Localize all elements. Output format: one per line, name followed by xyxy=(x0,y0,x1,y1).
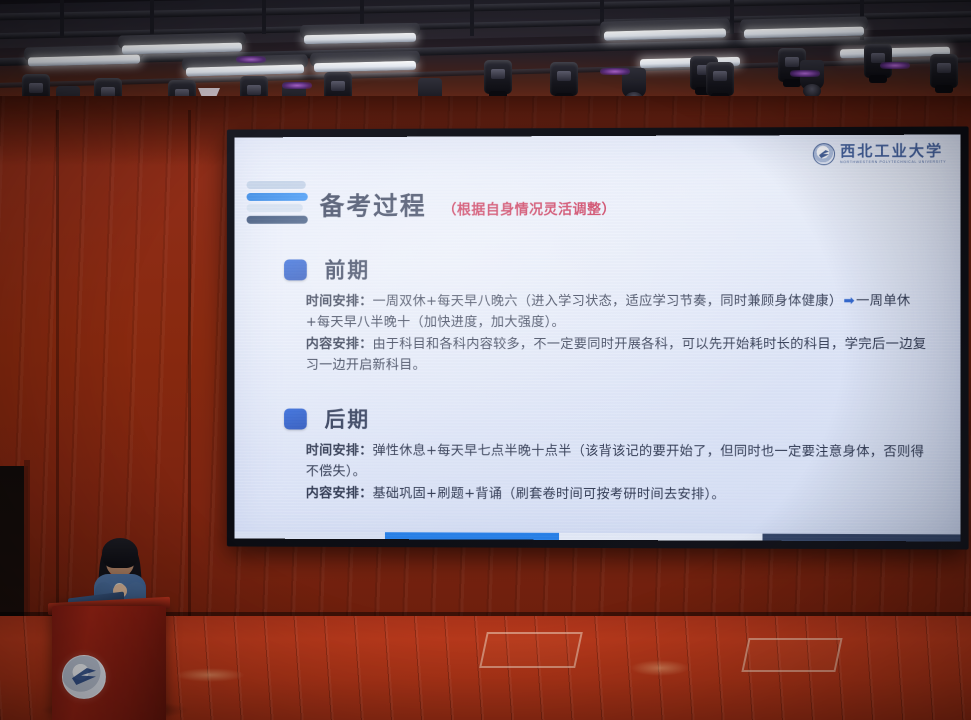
slide-title: 备考过程 xyxy=(320,187,427,223)
paragraph-text: 基础巩固+刷题+背诵（刷套卷时间可按考研时间去安排）。 xyxy=(373,486,726,502)
university-name-en: NORTHWESTERN POLYTECHNICAL UNIVERSITY xyxy=(840,161,946,165)
slide-section-early: 前期 时间安排：一周双休+每天早八晚六（进入学习状态，适应学习节奏，同时兼顾身体… xyxy=(284,253,931,376)
floor-hatch xyxy=(741,638,842,672)
blue-square-bullet-icon xyxy=(284,408,307,429)
rig-hanger xyxy=(262,0,266,34)
slide-title-row: 备考过程 （根据自身情况灵活调整） xyxy=(320,186,616,223)
accent-bar xyxy=(247,192,308,200)
section-paragraph: 时间安排：弹性休息+每天早七点半晚十点半（该背该记的要开始了，但同时也一定要注意… xyxy=(306,440,931,484)
par-can-light xyxy=(864,44,892,78)
accent-bar xyxy=(247,215,308,223)
lens-icon xyxy=(937,63,951,73)
projection-screen: 西北工业大学 NORTHWESTERN POLYTECHNICAL UNIVER… xyxy=(235,135,961,542)
slide-section-late: 后期 时间安排：弹性休息+每天早七点半晚十点半（该背该记的要开始了，但同时也一定… xyxy=(284,404,931,507)
section-paragraph: 时间安排：一周双休+每天早八晚六（进入学习状态，适应学习节奏，同时兼顾身体健康）… xyxy=(306,291,931,334)
accent-bar xyxy=(247,181,306,189)
led-strip-light xyxy=(304,33,416,44)
university-seal-icon xyxy=(813,143,835,165)
rig-hanger xyxy=(60,0,64,36)
section-heading-row: 前期 xyxy=(284,253,931,284)
wall-seam xyxy=(56,110,59,618)
paragraph-label: 时间安排： xyxy=(306,443,373,458)
par-can-light xyxy=(550,62,578,96)
paragraph-label: 内容安排： xyxy=(306,337,373,352)
par-can-light xyxy=(706,62,734,96)
hair xyxy=(102,538,138,568)
section-paragraph: 内容安排：由于科目和各科内容较多，不一定要同时开展各科，可以先开始耗时长的科目，… xyxy=(306,334,931,377)
lens-icon xyxy=(557,71,571,81)
led-strip-light xyxy=(314,61,416,72)
blue-square-bullet-icon xyxy=(284,259,307,280)
bottom-bar-segment xyxy=(235,532,386,540)
led-strip-light xyxy=(28,55,140,67)
right-arrow-icon: ➡ xyxy=(842,294,855,309)
presentation-slide: 西北工业大学 NORTHWESTERN POLYTECHNICAL UNIVER… xyxy=(235,135,961,542)
led-strip-light xyxy=(604,28,726,40)
bottom-bar-segment xyxy=(762,534,960,542)
university-logo-text: 西北工业大学 NORTHWESTERN POLYTECHNICAL UNIVER… xyxy=(840,143,946,164)
university-logo: 西北工业大学 NORTHWESTERN POLYTECHNICAL UNIVER… xyxy=(813,143,946,166)
rig-hanger xyxy=(730,0,734,34)
section-heading-row: 后期 xyxy=(284,404,931,435)
floor-hatch xyxy=(479,632,583,668)
lens-icon xyxy=(331,81,345,91)
accent-glow xyxy=(600,68,630,75)
bottom-bar-segment xyxy=(385,532,558,540)
floor-reflection xyxy=(175,668,245,682)
title-accent-bars xyxy=(247,181,308,227)
paragraph-text: 由于科目和各科内容较多，不一定要同时开展各科，可以先开始耗时长的科目，学完后一边… xyxy=(306,337,927,373)
floor-reflection xyxy=(630,660,690,676)
slide-subtitle: （根据自身情况灵活调整） xyxy=(443,199,616,219)
accent-bar xyxy=(247,204,303,212)
lens-icon xyxy=(491,69,505,79)
lecture-hall-photo: 西北工业大学 NORTHWESTERN POLYTECHNICAL UNIVER… xyxy=(0,0,971,720)
par-can-light xyxy=(484,60,512,94)
bottom-bar-segment xyxy=(559,533,763,541)
section-paragraph: 内容安排：基础巩固+刷题+背诵（刷套卷时间可按考研时间去安排）。 xyxy=(306,483,931,506)
rig-hanger xyxy=(470,0,474,36)
section-heading: 前期 xyxy=(325,254,371,284)
lens-icon xyxy=(247,85,261,95)
lens-icon xyxy=(713,71,727,81)
paragraph-label: 时间安排： xyxy=(306,294,373,309)
wall-seam xyxy=(188,110,191,618)
lens-icon xyxy=(785,57,799,67)
paragraph-label: 内容安排： xyxy=(306,486,373,501)
accent-glow xyxy=(790,70,820,77)
par-can-light xyxy=(930,54,958,88)
paragraph-text: 弹性休息+每天早七点半晚十点半（该背该记的要开始了，但同时也一定要注意身体，否则… xyxy=(306,444,925,480)
accent-glow xyxy=(282,82,312,89)
lens-icon xyxy=(29,83,43,93)
accent-glow xyxy=(236,56,266,63)
university-name-cn: 西北工业大学 xyxy=(840,143,946,158)
section-heading: 后期 xyxy=(325,404,371,434)
university-seal-icon xyxy=(62,655,106,699)
accent-glow xyxy=(880,62,910,69)
paragraph-text-before-arrow: 一周双休+每天早八晚六（进入学习状态，适应学习节奏，同时兼顾身体健康） xyxy=(373,294,843,309)
